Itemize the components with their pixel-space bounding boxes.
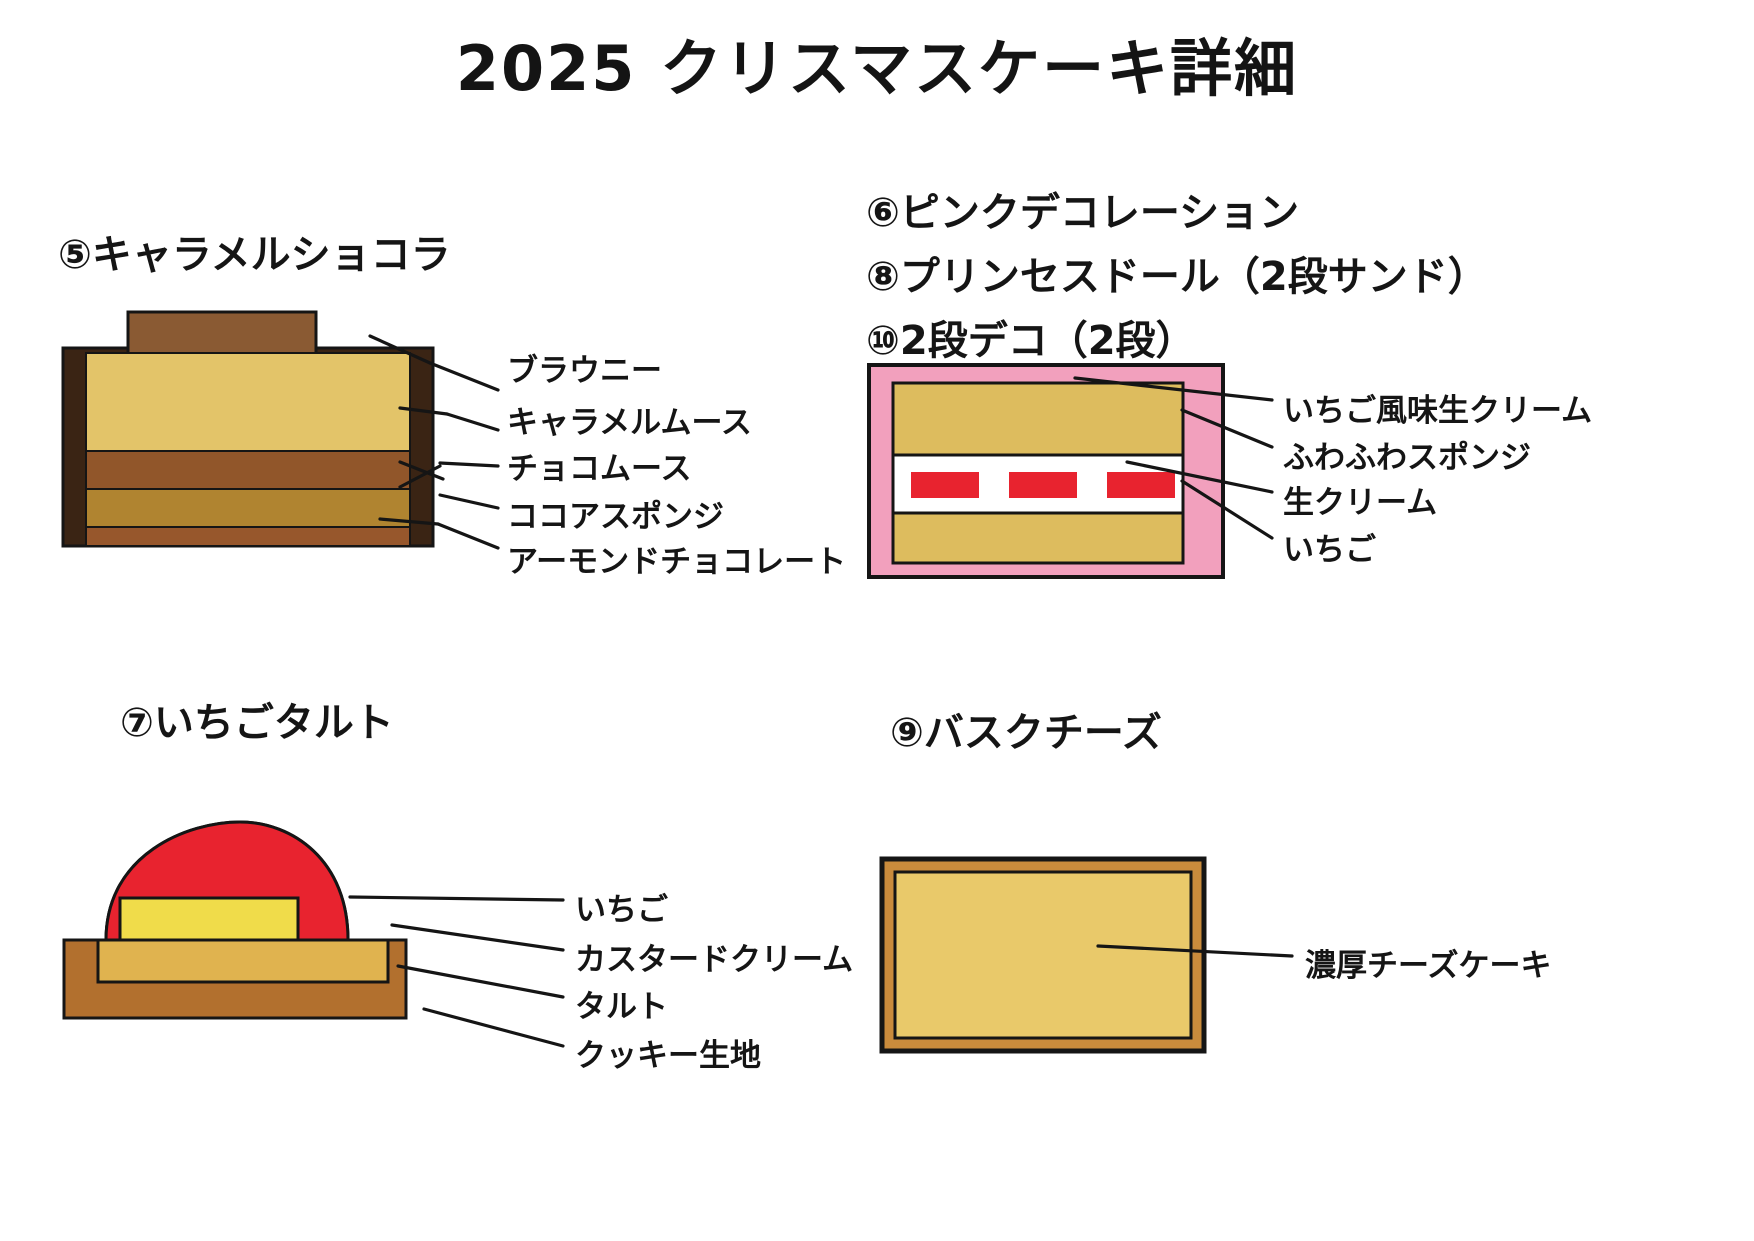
- callout-label-almond-chocolate: アーモンドチョコレート: [507, 536, 846, 581]
- callout-label-tart: タルト: [575, 981, 668, 1026]
- callout-label-tart-strawberry: いちご: [575, 884, 668, 929]
- layer-tart-inset: [98, 940, 388, 982]
- callout-label-cocoa-sponge: ココアスポンジ: [507, 491, 724, 536]
- callout-label-strawberry: いちご: [1283, 524, 1376, 569]
- layer-custard-cream: [120, 898, 298, 940]
- layer-strawberry-dome-front: [106, 822, 348, 940]
- layer-cheesecake-crust: [882, 859, 1204, 1051]
- layer-cookie-dough: [64, 940, 406, 1018]
- section-heading-two-tier-deco: ⑩2段デコ（2段）: [866, 308, 1196, 366]
- diagram-strawberry-tart: [58, 812, 458, 1024]
- callout-label-caramel-mousse: キャラメルムース: [507, 397, 752, 442]
- callout-label-brownie: ブラウニー: [507, 345, 662, 390]
- callout-label-rich-cheesecake: 濃厚チーズケーキ: [1305, 940, 1551, 985]
- callout-label-fluffy-sponge: ふわふわスポンジ: [1283, 432, 1531, 477]
- cookie-base-bounds: [64, 940, 406, 1018]
- layer-choco-mousse: [86, 451, 410, 489]
- layer-fluffy-sponge-top: [893, 383, 1183, 455]
- basque-cheese-cross-section: [878, 855, 1208, 1055]
- layer-cocoa-sponge-lower: [86, 527, 410, 546]
- section-heading-basque-cheese: ⑨バスクチーズ: [890, 700, 1162, 758]
- callout-label-cookie-dough: クッキー生地: [575, 1030, 761, 1075]
- section-heading-pink-decoration: ⑥ピンクデコレーション: [866, 180, 1299, 238]
- layer-tart: [120, 940, 385, 982]
- layer-fluffy-sponge-bottom: [893, 513, 1183, 563]
- callout-label-choco-mousse: チョコムース: [507, 443, 691, 488]
- callout-label-custard-cream: カスタードクリーム: [575, 934, 853, 979]
- section-heading-princess-doll: ⑧プリンセスドール（2段サンド）: [866, 244, 1488, 302]
- layer-strawberry-cream: [869, 365, 1223, 577]
- layer-cocoa-sponge: [86, 489, 410, 527]
- layer-caramel-mousse: [86, 353, 410, 451]
- layer-custard-cream-front: [120, 898, 298, 940]
- callout-label-fresh-cream: 生クリーム: [1283, 477, 1437, 522]
- strawberry-tart-cross-section: [58, 812, 458, 1024]
- layer-strawberry-piece: [1009, 472, 1077, 498]
- layer-strawberry-piece: [911, 472, 979, 498]
- layer-almond-chocolate: [63, 348, 433, 546]
- layer-rich-cheesecake: [895, 872, 1191, 1038]
- section-heading-strawberry-tart: ⑦いちごタルト: [120, 690, 394, 748]
- diagram-caramel-chocolat: [58, 308, 458, 550]
- diagram-pink-decoration: [866, 362, 1226, 580]
- layer-fresh-cream: [893, 455, 1183, 513]
- section-heading-caramel-chocolat: ⑤キャラメルショコラ: [58, 222, 451, 280]
- layer-brownie: [128, 312, 316, 354]
- pink-decoration-cross-section: [866, 362, 1226, 580]
- layer-strawberry-piece: [1107, 472, 1175, 498]
- caramel-chocolat-cross-section: [58, 308, 458, 550]
- diagram-basque-cheese: [878, 855, 1208, 1055]
- layer-strawberry-dome: [106, 822, 348, 940]
- callout-label-strawberry-cream: いちご風味生クリーム: [1283, 385, 1592, 430]
- page-title: 2025 クリスマスケーキ詳細: [0, 18, 1754, 108]
